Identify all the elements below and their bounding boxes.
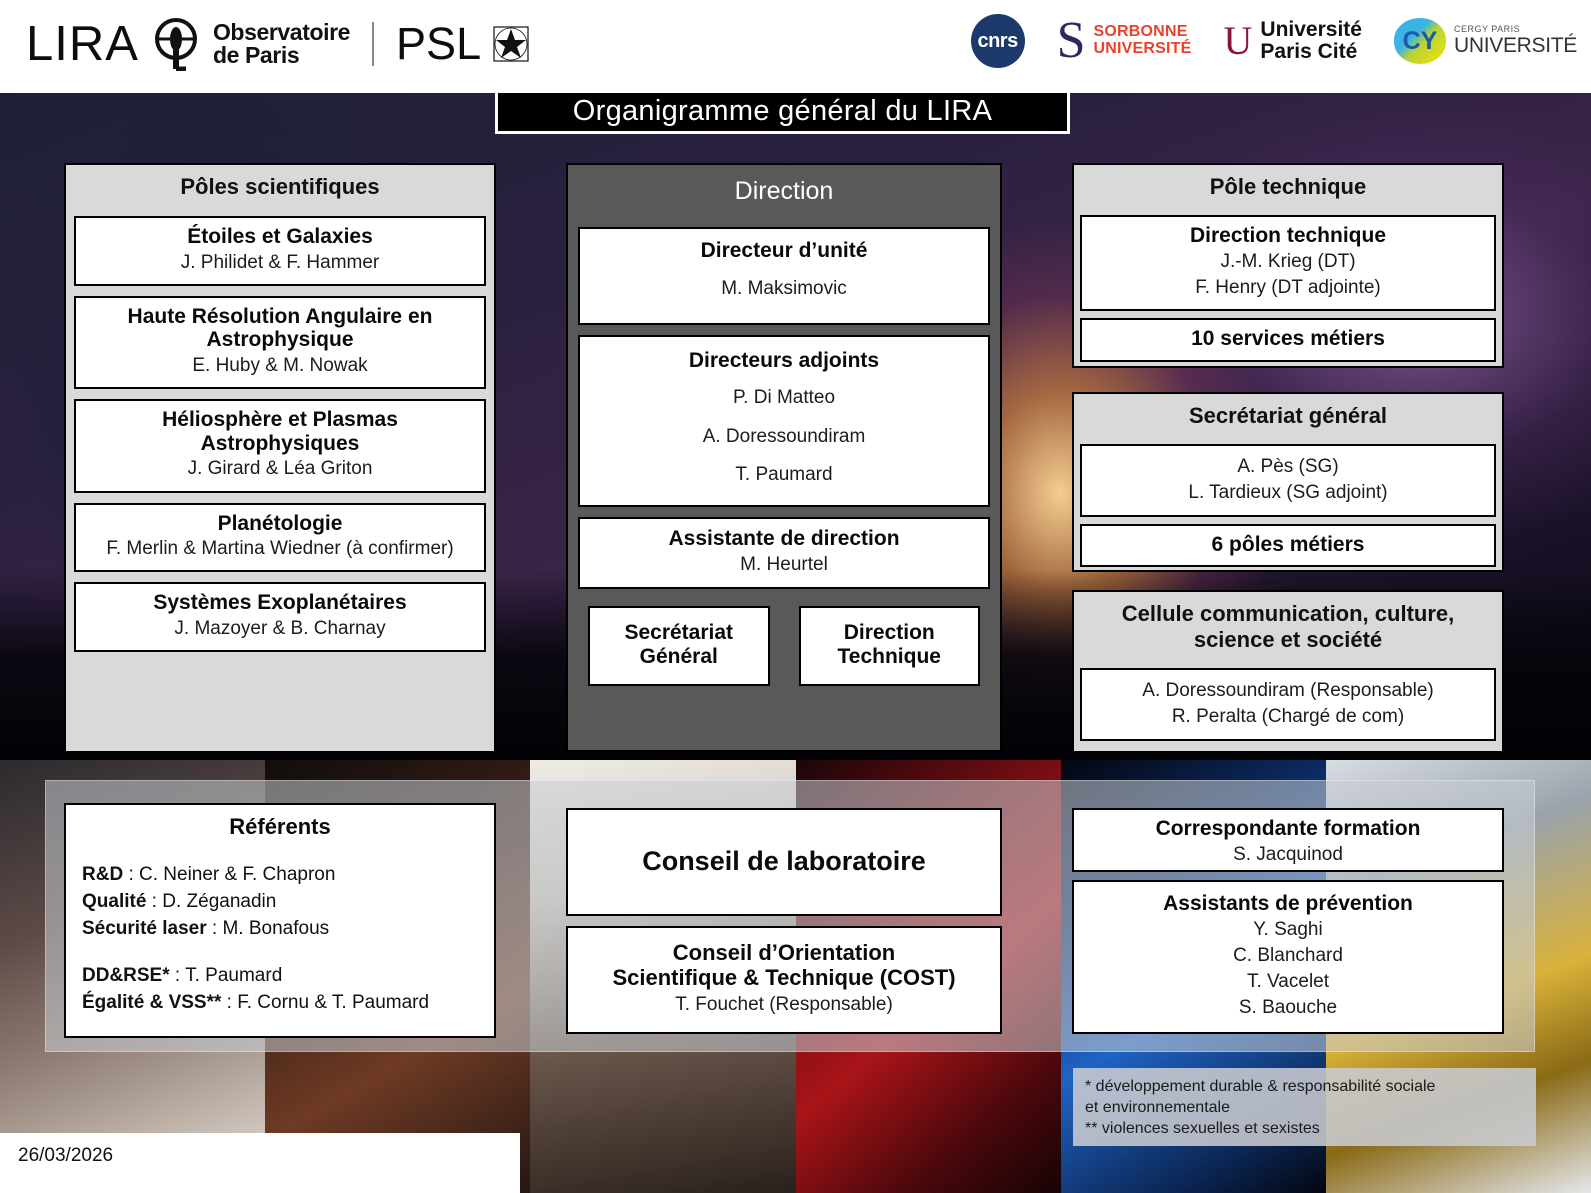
cellule-communication-heading: Cellule communication, culture, science … [1074,592,1502,663]
direction-heading: Direction [568,165,1000,220]
pole-systemes-exoplanetaires[interactable]: Systèmes Exoplanétaires J. Mazoyer & B. … [74,582,486,652]
sorbonne-s-icon: S [1057,20,1086,62]
box-direction-technique-link[interactable]: Direction Technique [799,606,981,686]
box-services-metiers[interactable]: 10 services métiers [1080,318,1496,362]
referent-qualite-label: Qualité [82,891,146,912]
secretariat-person-2: L. Tardieux (SG adjoint) [1090,481,1486,505]
pole-people: E. Huby & M. Nowak [84,354,476,378]
pole-etoiles-galaxies[interactable]: Étoiles et Galaxies J. Philidet & F. Ham… [74,216,486,286]
box-secretariat-people[interactable]: A. Pès (SG) L. Tardieux (SG adjoint) [1080,444,1496,517]
referents-title: Référents [82,815,478,840]
pole-people: J. Philidet & F. Hammer [84,251,476,275]
cost-title-line2: Scientifique & Technique (COST) [576,965,992,990]
box-direction-technique[interactable]: Direction technique J.-M. Krieg (DT) F. … [1080,215,1496,311]
pole-title: Étoiles et Galaxies [84,225,476,249]
sorbonne-line2: UNIVERSITÉ [1094,41,1192,58]
footnote-line-3: ** violences sexuelles et sexistes [1085,1118,1524,1139]
pole-heliosphere-plasmas[interactable]: Héliosphère et Plasmas Astrophysiques J.… [74,399,486,492]
services-metiers-label: 10 services métiers [1090,327,1486,351]
cy-label: CERGY PARIS UNIVERSITÉ [1454,24,1577,58]
box-cost[interactable]: Conseil d’Orientation Scientifique & Tec… [566,926,1002,1034]
referent-securite-laser: Sécurité laser : M. Bonafous [82,916,478,943]
referent-rd: R&D : C. Neiner & F. Chapron [82,862,478,889]
sorbonne-universite-logo: S SORBONNE UNIVERSITÉ [1057,20,1192,62]
box-conseil-laboratoire[interactable]: Conseil de laboratoire [566,808,1002,916]
referent-egalite-vss: Égalité & VSS** : F. Cornu & T. Paumard [82,990,478,1017]
assistant-prevention-4: S. Baouche [1082,996,1494,1020]
direction-technique-person-1: J.-M. Krieg (DT) [1090,250,1486,274]
cellule-person-1: A. Doressoundiram (Responsable) [1090,679,1486,703]
directeur-unite-title: Directeur d’unité [588,239,980,263]
panel-pole-technique: Pôle technique Direction technique J.-M.… [1072,163,1504,368]
direction-subunits-row: Secrétariat Général Direction Technique [578,599,990,696]
lira-wordmark: LIRA [26,16,139,72]
observatoire-line1: Observatoire [213,21,350,44]
upc-monogram-icon: U [1224,24,1253,58]
referent-ddrse: DD&RSE* : T. Paumard [82,963,478,990]
upc-line2: Paris Cité [1260,41,1362,63]
cy-line1: CERGY PARIS [1454,24,1577,34]
referent-securite-label: Sécurité laser [82,918,207,939]
directeur-adjoint-2: A. Doressoundiram [588,425,980,449]
conseil-laboratoire-label: Conseil de laboratoire [642,846,926,876]
logo-divider [372,22,374,66]
observatoire-eye-icon [149,17,203,71]
box-correspondante-formation[interactable]: Correspondante formation S. Jacquinod [1072,808,1504,872]
referent-ddrse-value: : T. Paumard [170,965,283,986]
cnrs-mark: cnrs [971,14,1025,68]
poles-scientifiques-heading: Pôles scientifiques [66,165,494,210]
correspondante-formation-people: S. Jacquinod [1082,843,1494,867]
chart-title: Organigramme général du LIRA [573,95,992,128]
referents-spacer [82,943,478,963]
date-stamp: 26/03/2026 [18,1145,113,1167]
secretariat-person-1: A. Pès (SG) [1090,455,1486,479]
cnrs-logo: cnrs [971,14,1025,68]
box-referents[interactable]: Référents R&D : C. Neiner & F. Chapron Q… [64,803,496,1038]
assistante-title: Assistante de direction [588,527,980,551]
referent-egalite-value: : F. Cornu & T. Paumard [221,992,429,1013]
pole-people: F. Merlin & Martina Wiedner (à confirmer… [84,537,476,561]
box-assistante-direction[interactable]: Assistante de direction M. Heurtel [578,517,990,589]
box-poles-metiers[interactable]: 6 pôles métiers [1080,524,1496,568]
directeur-adjoint-3: T. Paumard [588,463,980,487]
referent-rd-label: R&D [82,864,123,885]
footnote-block: * développement durable & responsabilité… [1073,1068,1536,1146]
cy-badge-icon: CY [1394,18,1446,64]
referent-rd-value: : C. Neiner & F. Chapron [123,864,335,885]
pole-people: J. Girard & Léa Griton [84,457,476,481]
psl-star-icon [493,26,529,62]
upc-line1: Université [1260,19,1362,41]
secretariat-general-label: Secrétariat Général [596,621,762,668]
directeurs-adjoints-title: Directeurs adjoints [588,349,980,373]
direction-technique-title: Direction technique [1090,224,1486,248]
pole-title: Héliosphère et Plasmas Astrophysiques [84,408,476,455]
pole-people: J. Mazoyer & B. Charnay [84,617,476,641]
box-directeur-unite[interactable]: Directeur d’unité M. Maksimovic [578,227,990,325]
assistant-prevention-3: T. Vacelet [1082,970,1494,994]
header-logo-bar: LIRA Observatoire de Paris PSL cnrs S SO… [0,0,1591,93]
sorbonne-line1: SORBONNE [1094,24,1192,41]
cost-people: T. Fouchet (Responsable) [576,993,992,1017]
referent-qualite: Qualité : D. Zéganadin [82,889,478,916]
cellule-person-2: R. Peralta (Chargé de com) [1090,705,1486,729]
referent-egalite-label: Égalité & VSS** [82,992,221,1013]
directeur-unite-people: M. Maksimovic [588,277,980,301]
assistante-people: M. Heurtel [588,553,980,577]
pole-title: Planétologie [84,512,476,536]
pole-haute-resolution-angulaire[interactable]: Haute Résolution Angulaire en Astrophysi… [74,296,486,389]
psl-wordmark: PSL [396,18,481,70]
referent-qualite-value: : D. Zéganadin [146,891,276,912]
assistant-prevention-1: Y. Saghi [1082,918,1494,942]
secretariat-general-heading: Secrétariat général [1074,394,1502,439]
upc-label: Université Paris Cité [1260,19,1362,63]
universite-paris-cite-logo: U Université Paris Cité [1224,19,1362,63]
cy-cergy-paris-universite-logo: CY CERGY PARIS UNIVERSITÉ [1394,18,1577,64]
panel-cellule-communication: Cellule communication, culture, science … [1072,590,1504,753]
pole-technique-heading: Pôle technique [1074,165,1502,210]
observatoire-line2: de Paris [213,44,350,67]
partner-logos-group: cnrs S SORBONNE UNIVERSITÉ U Université … [971,14,1577,68]
direction-technique-label: Direction Technique [807,621,973,668]
observatoire-de-paris-label: Observatoire de Paris [213,21,350,67]
box-assistants-prevention[interactable]: Assistants de prévention Y. Saghi C. Bla… [1072,880,1504,1034]
pole-title: Haute Résolution Angulaire en Astrophysi… [84,305,476,352]
cy-line2: UNIVERSITÉ [1454,34,1577,58]
chart-title-box: Organigramme général du LIRA [495,88,1070,134]
cost-title-line1: Conseil d’Orientation [576,940,992,965]
directeur-adjoint-1: P. Di Matteo [588,386,980,410]
assistant-prevention-2: C. Blanchard [1082,944,1494,968]
pole-title: Systèmes Exoplanétaires [84,591,476,615]
footnote-line-1: * développement durable & responsabilité… [1085,1076,1524,1097]
footnote-line-2: et environnementale [1085,1097,1524,1118]
box-secretariat-general-link[interactable]: Secrétariat Général [588,606,770,686]
referent-securite-value: : M. Bonafous [207,918,330,939]
box-directeurs-adjoints[interactable]: Directeurs adjoints P. Di Matteo A. Dore… [578,335,990,507]
assistants-prevention-title: Assistants de prévention [1082,892,1494,916]
sorbonne-label: SORBONNE UNIVERSITÉ [1094,24,1192,58]
panel-direction: Direction Directeur d’unité M. Maksimovi… [566,163,1002,752]
correspondante-formation-title: Correspondante formation [1082,817,1494,841]
panel-secretariat-general: Secrétariat général A. Pès (SG) L. Tardi… [1072,392,1504,572]
lira-logo-group: LIRA Observatoire de Paris PSL [26,16,529,72]
panel-poles-scientifiques: Pôles scientifiques Étoiles et Galaxies … [64,163,496,753]
pole-planetologie[interactable]: Planétologie F. Merlin & Martina Wiedner… [74,503,486,573]
poles-metiers-label: 6 pôles métiers [1090,533,1486,557]
referent-ddrse-label: DD&RSE* [82,965,170,986]
box-cellule-people[interactable]: A. Doressoundiram (Responsable) R. Peral… [1080,668,1496,741]
direction-technique-person-2: F. Henry (DT adjointe) [1090,276,1486,300]
